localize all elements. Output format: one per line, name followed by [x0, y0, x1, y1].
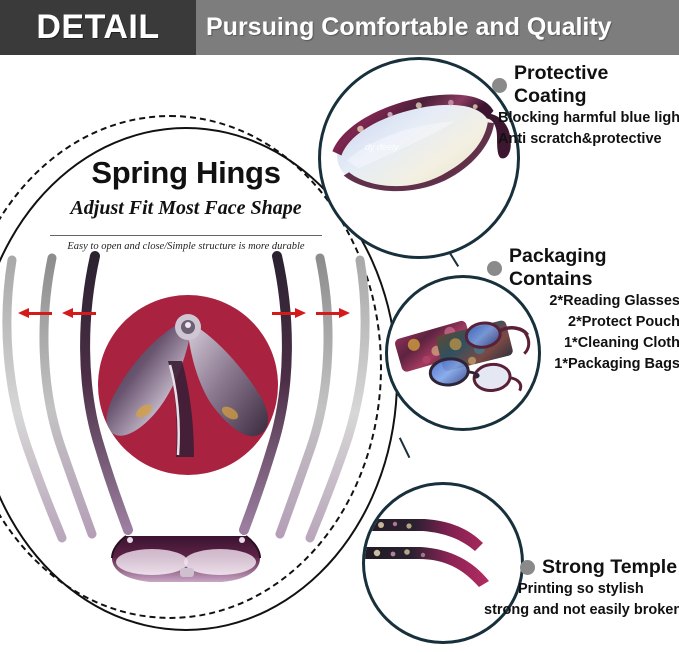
feature-title: Protective Coating	[514, 62, 679, 108]
feature-line: Printing so stylish	[518, 579, 679, 600]
feature-title: Packaging Contains	[509, 245, 679, 291]
feature-line: strong and not easily broken	[484, 600, 679, 621]
list-item: 2*Reading Glasses	[487, 291, 679, 312]
hinge-detail-inset	[98, 295, 278, 475]
flex-arrow-right-outer	[316, 308, 350, 318]
photo-protective-coating: dy deely	[318, 57, 520, 259]
spring-hinge-title: Spring Hings	[0, 155, 372, 191]
feature-title: Strong Temple	[542, 556, 677, 579]
feature-line: Blocking harmful blue light	[498, 108, 679, 129]
feature-heading-packaging-contains: Packaging Contains	[487, 245, 679, 291]
feature-heading-strong-temple: Strong Temple	[520, 556, 679, 579]
list-item: 2*Protect Pouch	[487, 312, 679, 333]
page-subtitle: Pursuing Comfortable and Quality	[196, 0, 679, 55]
page-header: DETAIL Pursuing Comfortable and Quality	[0, 0, 679, 55]
connector-line-packaging-temple	[399, 437, 410, 457]
feature-line: Anti scratch&protective	[498, 129, 679, 150]
bullet-dot-icon	[520, 560, 535, 575]
feature-strong-temple: Strong Temple Printing so stylish strong…	[512, 556, 679, 621]
bullet-dot-icon	[492, 78, 507, 93]
flex-arrow-left-inner	[62, 308, 96, 318]
feature-protective-coating: Protective Coating Blocking harmful blue…	[492, 62, 679, 150]
divider-rule	[50, 235, 322, 236]
list-item: 1*Cleaning Cloth	[487, 333, 679, 354]
connector-line-coating-packaging	[449, 252, 459, 266]
feature-heading-protective-coating: Protective Coating	[492, 62, 679, 108]
spring-hinge-panel: Spring Hings Adjust Fit Most Face Shape …	[0, 55, 372, 653]
flex-arrow-left-outer	[18, 308, 52, 318]
spring-hinge-subtitle: Adjust Fit Most Face Shape	[0, 197, 372, 220]
svg-text:dy deely: dy deely	[365, 142, 399, 152]
feature-packaging-contains: Packaging Contains 2*Reading Glasses 2*P…	[487, 245, 679, 375]
list-item: 1*Packaging Bags	[487, 354, 679, 375]
flex-arrow-right-inner	[272, 308, 306, 318]
bullet-dot-icon	[487, 261, 502, 276]
glasses-top-view-illustration	[0, 250, 372, 610]
header-badge-label: DETAIL	[0, 0, 196, 55]
packaging-contents-list: 2*Reading Glasses 2*Protect Pouch 1*Clea…	[487, 291, 679, 375]
cat-eye-glasses-graphic: dy deely	[321, 60, 511, 250]
hinge-closeup-graphic	[98, 295, 278, 475]
